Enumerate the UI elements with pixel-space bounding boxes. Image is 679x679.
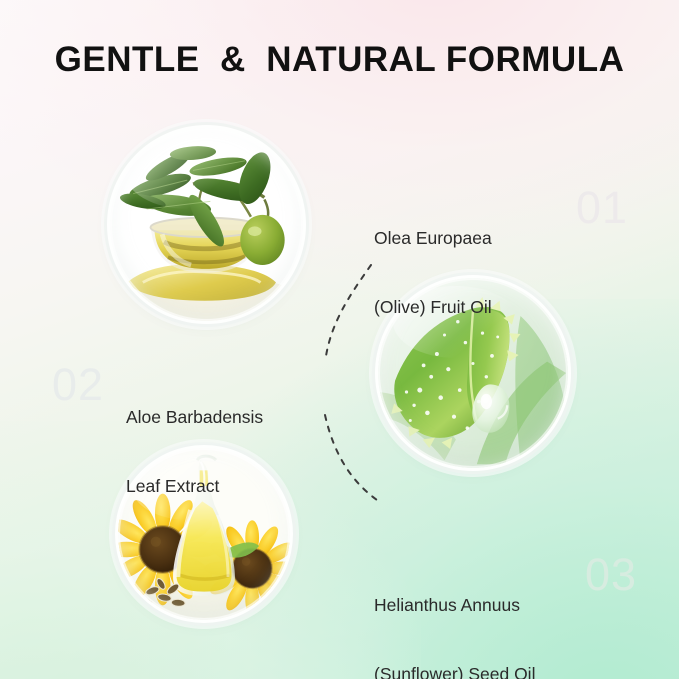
ingredient-name-line1-01: Olea Europaea (374, 227, 492, 250)
ingredient-image-olive (110, 128, 303, 321)
page-title: GENTLE & NATURAL FORMULA (0, 40, 679, 80)
ingredient-label-01: Olea Europaea (Olive) Fruit Oil (374, 181, 492, 365)
olive-photo (110, 128, 303, 321)
ingredient-number-03: 03 (585, 552, 637, 597)
ingredient-name-line1-03: Helianthus Annuus (374, 594, 535, 617)
ingredient-name-line2-02: Leaf Extract (126, 475, 263, 498)
ingredient-number-02: 02 (52, 362, 104, 407)
ingredient-infographic-poster: GENTLE & NATURAL FORMULA (0, 0, 679, 679)
ingredient-name-line2-03: (Sunflower) Seed Oil (374, 663, 535, 679)
ingredient-label-03: Helianthus Annuus (Sunflower) Seed Oil (374, 548, 535, 679)
ingredient-name-line2-01: (Olive) Fruit Oil (374, 296, 492, 319)
ingredient-name-line1-02: Aloe Barbadensis (126, 406, 263, 429)
ingredient-number-01: 01 (576, 185, 628, 230)
olive-oil-bowl-illustration (110, 128, 303, 321)
ingredient-label-02: Aloe Barbadensis Leaf Extract (126, 360, 263, 544)
